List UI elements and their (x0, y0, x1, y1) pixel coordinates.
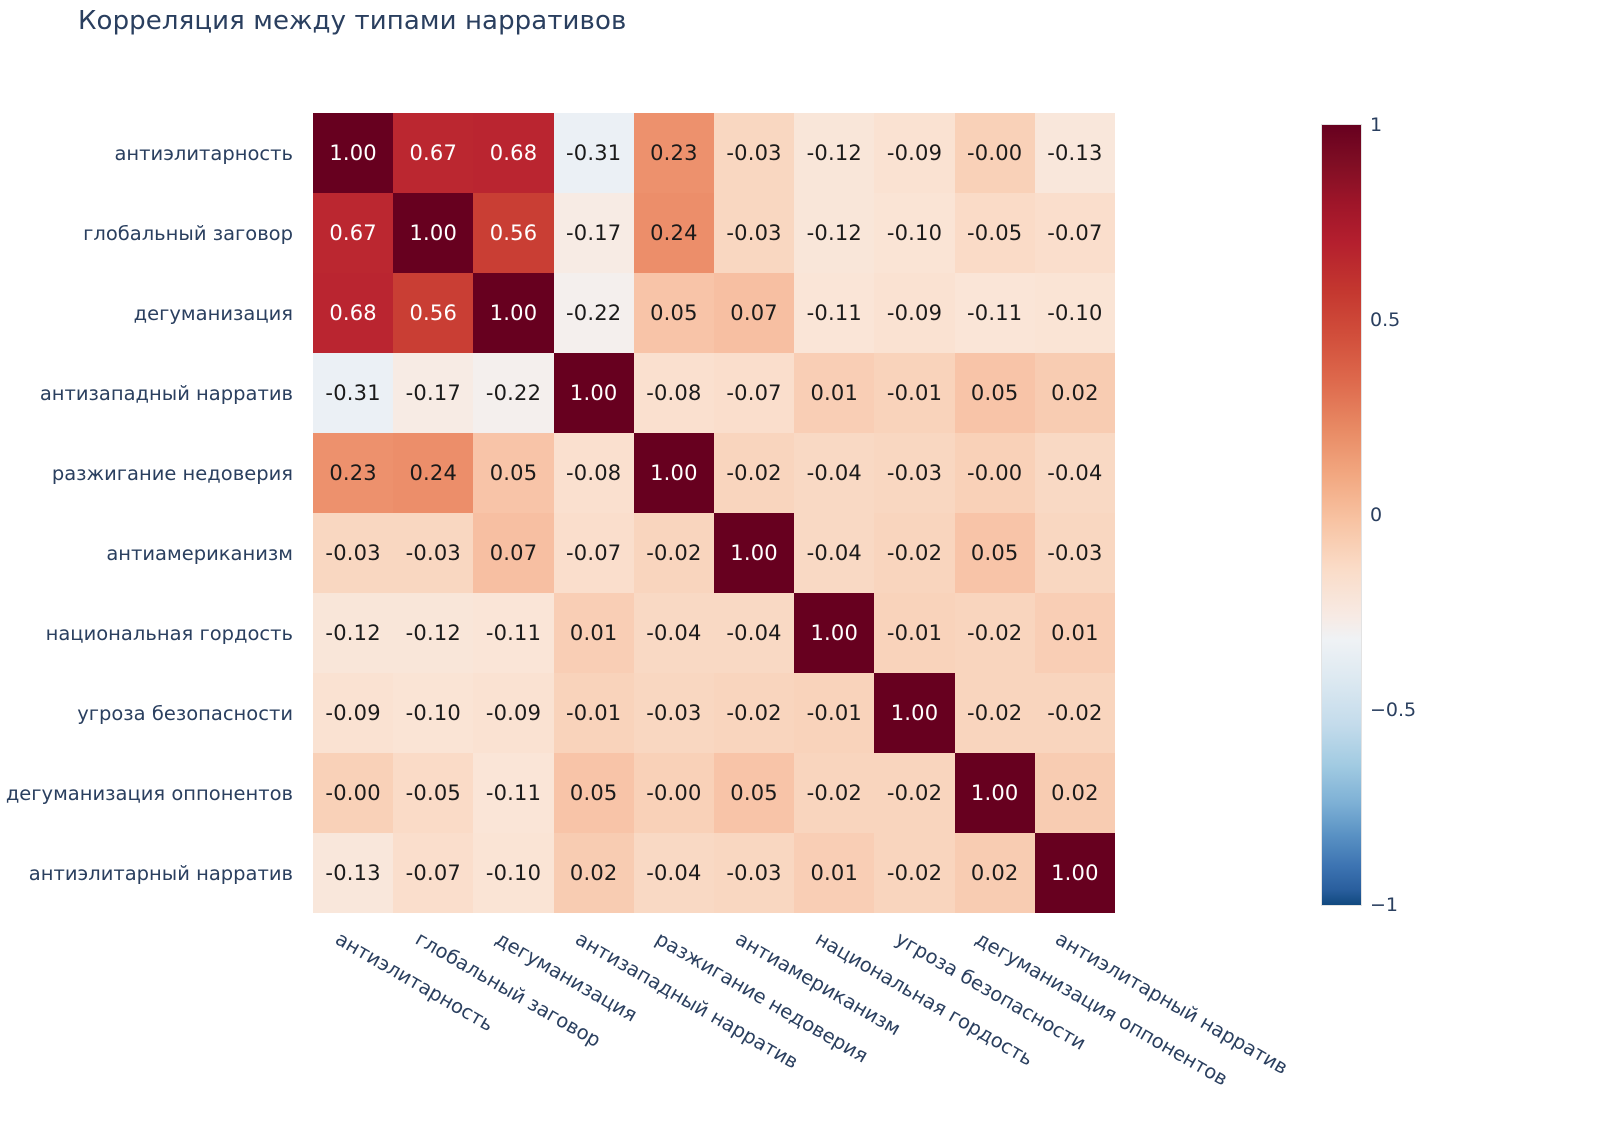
heatmap-cell: 0.24 (634, 193, 714, 273)
heatmap-cell-value: -0.00 (325, 783, 380, 804)
heatmap-cell-value: 0.01 (1051, 623, 1099, 644)
heatmap-cell-value: -0.13 (325, 863, 380, 884)
heatmap-cell-value: -0.03 (726, 223, 781, 244)
heatmap-cell-value: -0.22 (566, 303, 621, 324)
heatmap-cell-value: 0.24 (650, 223, 698, 244)
heatmap-cell: -0.02 (874, 513, 954, 593)
heatmap-cell: -0.00 (313, 753, 393, 833)
heatmap-cell-value: -0.02 (726, 703, 781, 724)
heatmap-cell: 0.05 (955, 353, 1035, 433)
heatmap-cell-value: -0.00 (967, 463, 1022, 484)
heatmap-cell: 0.01 (794, 833, 874, 913)
heatmap-cell: -0.10 (874, 193, 954, 273)
heatmap-cell: 1.00 (554, 353, 634, 433)
heatmap-cell: -0.09 (313, 673, 393, 753)
heatmap-cell-value: -0.08 (646, 383, 701, 404)
heatmap-cell-value: -0.09 (887, 143, 942, 164)
x-axis-tick-labels: антиэлитарностьглобальный заговордегуман… (313, 913, 1115, 1118)
heatmap-cell: -0.02 (955, 673, 1035, 753)
heatmap-cell-value: -0.03 (646, 703, 701, 724)
heatmap-cell-value: 0.02 (1051, 783, 1099, 804)
heatmap-cell-value: 1.00 (329, 143, 377, 164)
y-axis-tick-label: угроза безопасности (77, 673, 293, 753)
heatmap-cell: 1.00 (634, 433, 714, 513)
heatmap-cell: 0.05 (714, 753, 794, 833)
heatmap-cell: -0.08 (554, 433, 634, 513)
heatmap-cell-value: 0.67 (410, 143, 458, 164)
heatmap-cell: 1.00 (955, 753, 1035, 833)
y-axis-tick-label: антиэлитарность (114, 113, 293, 193)
y-axis-tick-label: дегуманизация (134, 273, 293, 353)
heatmap-cell-value: 0.01 (570, 623, 618, 644)
heatmap-cell: -0.04 (794, 513, 874, 593)
colorbar-tick-label: −1 (1370, 894, 1398, 916)
heatmap-cell: -0.01 (554, 673, 634, 753)
heatmap-cell: -0.02 (714, 433, 794, 513)
heatmap-cell-value: 0.05 (650, 303, 698, 324)
heatmap-cell-value: 1.00 (811, 623, 859, 644)
heatmap-cell: -0.03 (393, 513, 473, 593)
heatmap-cell: -0.07 (554, 513, 634, 593)
heatmap-cell-value: -0.03 (726, 863, 781, 884)
heatmap-cell: 0.02 (1035, 353, 1115, 433)
heatmap-cell-value: -0.03 (406, 543, 461, 564)
colorbar-tick-label: −0.5 (1370, 699, 1416, 721)
heatmap-cell-value: -0.02 (726, 463, 781, 484)
page-title: Корреляция между типами нарративов (78, 6, 626, 36)
heatmap-cell: -0.03 (714, 193, 794, 273)
heatmap-cell-value: -0.04 (1047, 463, 1102, 484)
heatmap-cell: -0.03 (714, 833, 794, 913)
heatmap-cell: -0.03 (634, 673, 714, 753)
heatmap-cell-value: -0.12 (406, 623, 461, 644)
heatmap-cell-value: -0.09 (486, 703, 541, 724)
heatmap-plot-area: 1.000.670.68-0.310.23-0.03-0.12-0.09-0.0… (313, 113, 1115, 913)
y-axis-tick-label: антизападный нарратив (40, 353, 293, 433)
heatmap-cell: -0.08 (634, 353, 714, 433)
heatmap-cell-value: -0.10 (1047, 303, 1102, 324)
heatmap-cell: -0.00 (955, 113, 1035, 193)
heatmap-cell-value: 0.02 (1051, 383, 1099, 404)
heatmap-cell: -0.02 (794, 753, 874, 833)
colorbar (1322, 125, 1361, 905)
heatmap-cell: -0.03 (1035, 513, 1115, 593)
heatmap-cell-value: 1.00 (410, 223, 458, 244)
heatmap-cell: -0.09 (473, 673, 553, 753)
heatmap-cell: -0.03 (313, 513, 393, 593)
heatmap-cell-value: -0.03 (726, 143, 781, 164)
heatmap-cell: 1.00 (393, 193, 473, 273)
heatmap-cell: 1.00 (794, 593, 874, 673)
heatmap-cell-value: -0.31 (566, 143, 621, 164)
heatmap-cell-value: 0.07 (730, 303, 778, 324)
heatmap-cell: -0.04 (794, 433, 874, 513)
heatmap-cell-value: -0.02 (887, 783, 942, 804)
heatmap-cell: -0.02 (874, 753, 954, 833)
y-axis-tick-label: национальная гордость (46, 593, 293, 673)
heatmap-cell-value: -0.11 (807, 303, 862, 324)
heatmap-cell-value: -0.04 (646, 863, 701, 884)
heatmap-cell: -0.05 (955, 193, 1035, 273)
heatmap-cell-value: -0.03 (325, 543, 380, 564)
heatmap-cell: -0.11 (473, 593, 553, 673)
heatmap-cell-value: 0.01 (811, 863, 859, 884)
heatmap-cell-value: 0.05 (490, 463, 538, 484)
heatmap-cell-value: -0.22 (486, 383, 541, 404)
heatmap-cell: -0.03 (874, 433, 954, 513)
heatmap-cell-value: -0.09 (325, 703, 380, 724)
heatmap-cell-value: -0.10 (486, 863, 541, 884)
heatmap-cell-value: -0.12 (807, 143, 862, 164)
heatmap-cell: -0.12 (313, 593, 393, 673)
y-axis-tick-label: антиамериканизм (106, 513, 293, 593)
heatmap-cell: -0.02 (955, 593, 1035, 673)
heatmap-cell: -0.12 (393, 593, 473, 673)
heatmap-cell: -0.00 (955, 433, 1035, 513)
heatmap-cell-value: -0.10 (406, 703, 461, 724)
heatmap-cell-value: -0.07 (566, 543, 621, 564)
heatmap-cell: -0.07 (393, 833, 473, 913)
heatmap-cell-value: 1.00 (1051, 863, 1099, 884)
heatmap-cell: 0.67 (393, 113, 473, 193)
colorbar-tick-label: 1 (1370, 114, 1382, 136)
heatmap-cell: -0.12 (794, 113, 874, 193)
heatmap-cell-value: -0.08 (566, 463, 621, 484)
heatmap-cell-value: 1.00 (650, 463, 698, 484)
heatmap-cell: 0.01 (1035, 593, 1115, 673)
heatmap-cell: -0.11 (473, 753, 553, 833)
heatmap-cell-value: -0.02 (887, 543, 942, 564)
heatmap-cell: 0.68 (473, 113, 553, 193)
heatmap-cell: -0.02 (634, 513, 714, 593)
heatmap-cell-value: -0.11 (967, 303, 1022, 324)
heatmap-cell: 0.05 (554, 753, 634, 833)
colorbar-tick-label: 0.5 (1370, 309, 1400, 331)
heatmap-cell-value: 0.24 (410, 463, 458, 484)
heatmap-cell-value: 1.00 (490, 303, 538, 324)
heatmap-cell-value: -0.00 (967, 143, 1022, 164)
heatmap-cell-value: -0.02 (967, 623, 1022, 644)
heatmap-cell-value: -0.09 (887, 303, 942, 324)
heatmap-cell: -0.00 (634, 753, 714, 833)
heatmap-cell-value: -0.11 (486, 623, 541, 644)
heatmap-cell-value: -0.03 (887, 463, 942, 484)
heatmap-cell: 0.68 (313, 273, 393, 353)
heatmap-cell: -0.13 (1035, 113, 1115, 193)
heatmap-cell: -0.12 (794, 193, 874, 273)
heatmap-cell: -0.17 (393, 353, 473, 433)
heatmap-cell: 0.23 (634, 113, 714, 193)
heatmap-cell-value: 0.67 (329, 223, 377, 244)
heatmap-cell-value: 1.00 (570, 383, 618, 404)
heatmap-cell-value: -0.11 (486, 783, 541, 804)
heatmap-cell-value: 0.23 (329, 463, 377, 484)
heatmap-cell-value: 0.56 (490, 223, 538, 244)
heatmap-cell: -0.07 (1035, 193, 1115, 273)
heatmap-cell: -0.22 (554, 273, 634, 353)
heatmap-cell-value: 0.05 (730, 783, 778, 804)
heatmap-cell-value: -0.02 (807, 783, 862, 804)
heatmap-cell: 1.00 (313, 113, 393, 193)
heatmap-cell-value: -0.01 (807, 703, 862, 724)
heatmap-cell: 0.07 (714, 273, 794, 353)
heatmap-cell: 0.67 (313, 193, 393, 273)
heatmap-cell-value: -0.04 (726, 623, 781, 644)
heatmap-cell-value: -0.07 (1047, 223, 1102, 244)
heatmap-cell-value: -0.02 (1047, 703, 1102, 724)
heatmap-cell: 0.01 (794, 353, 874, 433)
heatmap-cell: -0.04 (634, 593, 714, 673)
heatmap-grid: 1.000.670.68-0.310.23-0.03-0.12-0.09-0.0… (313, 113, 1115, 913)
heatmap-cell: 0.24 (393, 433, 473, 513)
heatmap-cell: 0.56 (393, 273, 473, 353)
heatmap-cell: -0.10 (393, 673, 473, 753)
heatmap-cell-value: 1.00 (891, 703, 939, 724)
heatmap-cell: 0.56 (473, 193, 553, 273)
heatmap-cell: -0.09 (874, 273, 954, 353)
heatmap-cell-value: -0.01 (887, 383, 942, 404)
heatmap-cell-value: -0.04 (807, 543, 862, 564)
heatmap-cell-value: -0.05 (967, 223, 1022, 244)
heatmap-cell-value: -0.02 (646, 543, 701, 564)
colorbar-tick-label: 0 (1370, 504, 1382, 526)
heatmap-cell-value: -0.03 (1047, 543, 1102, 564)
heatmap-cell: 0.02 (1035, 753, 1115, 833)
heatmap-cell: 1.00 (874, 673, 954, 753)
heatmap-cell-value: 0.07 (490, 543, 538, 564)
y-axis-tick-label: разжигание недоверия (52, 433, 293, 513)
heatmap-cell-value: 1.00 (971, 783, 1019, 804)
heatmap-cell: -0.13 (313, 833, 393, 913)
heatmap-cell-value: 0.68 (490, 143, 538, 164)
heatmap-cell-value: -0.02 (967, 703, 1022, 724)
heatmap-cell-value: -0.13 (1047, 143, 1102, 164)
heatmap-cell: -0.04 (634, 833, 714, 913)
heatmap-cell: -0.01 (794, 673, 874, 753)
heatmap-cell-value: -0.17 (566, 223, 621, 244)
y-axis-tick-label: глобальный заговор (83, 193, 293, 273)
heatmap-cell: 0.05 (955, 513, 1035, 593)
heatmap-cell: 0.02 (955, 833, 1035, 913)
heatmap-cell: 0.02 (554, 833, 634, 913)
heatmap-cell-value: 0.23 (650, 143, 698, 164)
heatmap-cell-value: -0.12 (807, 223, 862, 244)
heatmap-cell-value: 0.02 (971, 863, 1019, 884)
heatmap-figure: Корреляция между типами нарративов антиэ… (0, 0, 1600, 1123)
heatmap-cell: -0.17 (554, 193, 634, 273)
heatmap-cell: -0.02 (874, 833, 954, 913)
heatmap-cell-value: -0.05 (406, 783, 461, 804)
heatmap-cell-value: -0.12 (325, 623, 380, 644)
heatmap-cell: -0.01 (874, 353, 954, 433)
heatmap-cell: 0.07 (473, 513, 553, 593)
heatmap-cell: 0.01 (554, 593, 634, 673)
heatmap-cell-value: 1.00 (730, 543, 778, 564)
heatmap-cell-value: 0.68 (329, 303, 377, 324)
heatmap-cell: -0.22 (473, 353, 553, 433)
heatmap-cell: -0.03 (714, 113, 794, 193)
heatmap-cell-value: 0.02 (570, 863, 618, 884)
heatmap-cell: -0.02 (1035, 673, 1115, 753)
heatmap-cell-value: -0.04 (646, 623, 701, 644)
heatmap-cell: -0.31 (313, 353, 393, 433)
heatmap-cell-value: -0.10 (887, 223, 942, 244)
heatmap-cell-value: -0.00 (646, 783, 701, 804)
heatmap-cell-value: -0.07 (726, 383, 781, 404)
heatmap-cell: -0.11 (955, 273, 1035, 353)
heatmap-cell: -0.04 (1035, 433, 1115, 513)
heatmap-cell: 1.00 (1035, 833, 1115, 913)
heatmap-cell-value: -0.04 (807, 463, 862, 484)
heatmap-cell: -0.07 (714, 353, 794, 433)
heatmap-cell: -0.11 (794, 273, 874, 353)
heatmap-cell: 1.00 (714, 513, 794, 593)
heatmap-cell-value: -0.02 (887, 863, 942, 884)
heatmap-cell: -0.02 (714, 673, 794, 753)
heatmap-cell-value: -0.01 (887, 623, 942, 644)
heatmap-cell-value: 0.05 (971, 383, 1019, 404)
heatmap-cell-value: -0.17 (406, 383, 461, 404)
heatmap-cell: -0.05 (393, 753, 473, 833)
heatmap-cell: 1.00 (473, 273, 553, 353)
heatmap-cell-value: -0.31 (325, 383, 380, 404)
heatmap-cell: -0.09 (874, 113, 954, 193)
heatmap-cell: -0.01 (874, 593, 954, 673)
heatmap-cell-value: 0.56 (410, 303, 458, 324)
heatmap-cell-value: 0.05 (570, 783, 618, 804)
heatmap-cell-value: 0.01 (811, 383, 859, 404)
heatmap-cell: 0.05 (473, 433, 553, 513)
heatmap-cell: -0.10 (1035, 273, 1115, 353)
heatmap-cell: 0.23 (313, 433, 393, 513)
heatmap-cell-value: 0.05 (971, 543, 1019, 564)
heatmap-cell: -0.31 (554, 113, 634, 193)
heatmap-cell: -0.10 (473, 833, 553, 913)
heatmap-cell: -0.04 (714, 593, 794, 673)
y-axis-tick-label: антиэлитарный нарратив (29, 833, 293, 913)
heatmap-cell-value: -0.01 (566, 703, 621, 724)
y-axis-tick-label: дегуманизация оппонентов (6, 753, 293, 833)
heatmap-cell-value: -0.07 (406, 863, 461, 884)
y-axis-tick-labels: антиэлитарностьглобальный заговордегуман… (0, 113, 303, 913)
heatmap-cell: 0.05 (634, 273, 714, 353)
